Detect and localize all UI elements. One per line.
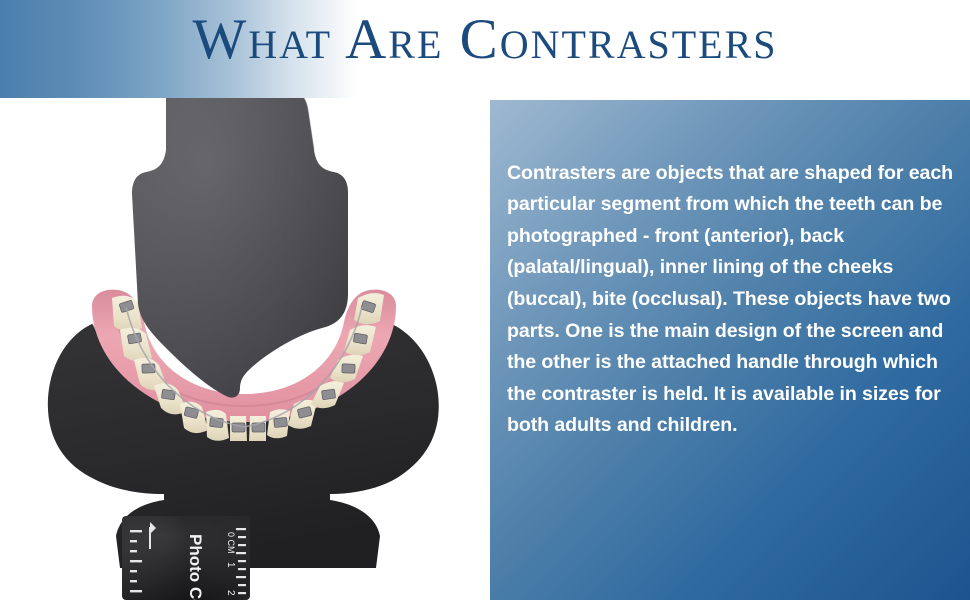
contraster-illustration: 0 CM 1 2 Photo Co [0, 98, 487, 600]
slide-header-banner: What Are Contrasters [0, 0, 970, 98]
handle-brand-label: Photo Co [186, 534, 205, 600]
contraster-screen [132, 98, 348, 398]
ruler-label-1: 1 [225, 562, 236, 568]
ruler-label-0: 0 CM [226, 532, 236, 554]
description-panel: Contrasters are objects that are shaped … [490, 100, 970, 600]
ruler-label-2: 2 [225, 590, 236, 596]
contraster-handle: 0 CM 1 2 Photo Co [122, 516, 250, 600]
page-title: What Are Contrasters [0, 10, 970, 70]
product-photo: 0 CM 1 2 Photo Co [0, 98, 487, 600]
description-text: Contrasters are objects that are shaped … [507, 158, 955, 442]
